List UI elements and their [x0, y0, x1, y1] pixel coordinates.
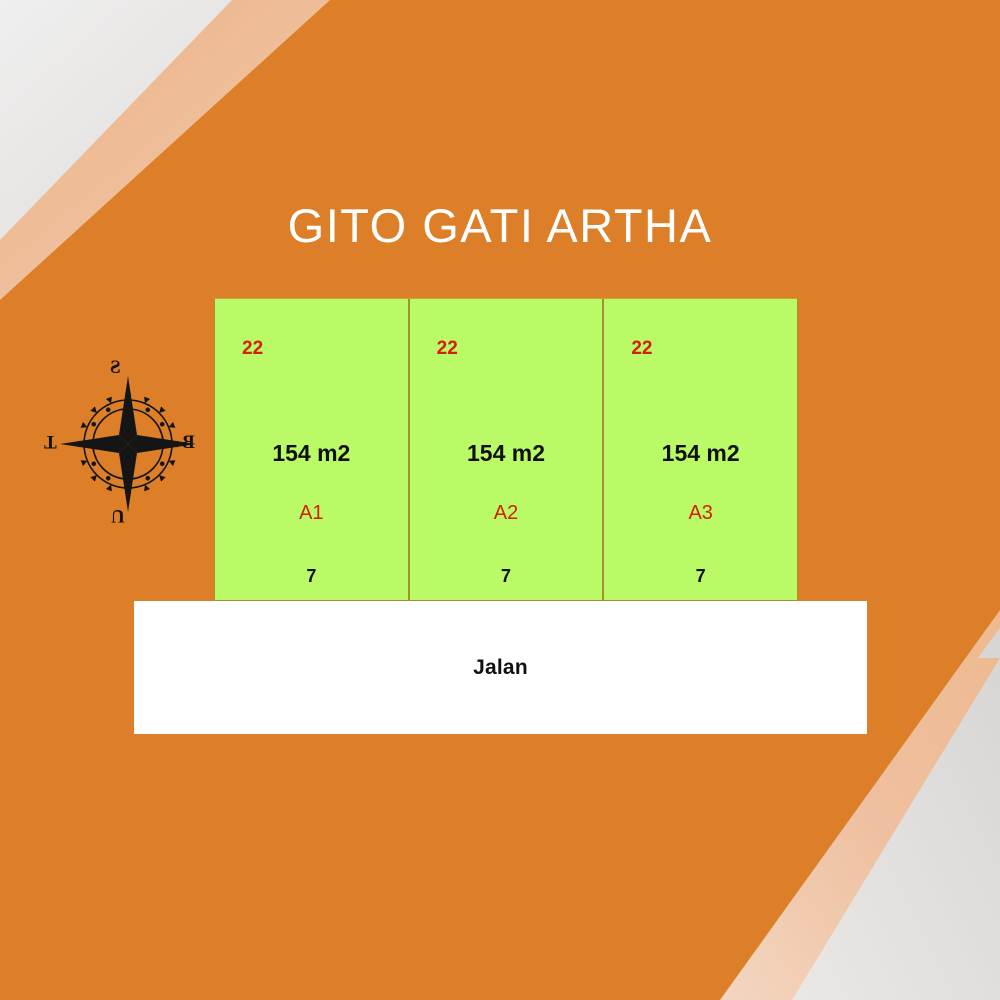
parcel-a1[interactable]: 22 154 m2 A1 7	[215, 299, 410, 600]
compass-label-south: U	[111, 506, 125, 525]
parcel-code-label: A2	[410, 503, 603, 524]
parcel-area-label: 154 m2	[410, 441, 603, 465]
road-label: Jalan	[473, 657, 528, 679]
compass-label-north: S	[110, 358, 121, 377]
compass-label-east: B	[182, 433, 195, 452]
page-title: GITO GATI ARTHA	[0, 198, 1000, 254]
parcel-depth-label: 7	[410, 567, 603, 585]
parcel-area-label: 154 m2	[215, 441, 408, 465]
parcel-area-label: 154 m2	[604, 441, 797, 465]
parcel-depth-label: 7	[215, 567, 408, 585]
parcel-a3[interactable]: 22 154 m2 A3 7	[604, 299, 797, 600]
parcel-code-label: A1	[215, 503, 408, 524]
decorative-corner-top-left	[0, 0, 330, 300]
parcel-width-label: 22	[242, 339, 263, 358]
parcel-width-label: 22	[631, 339, 652, 358]
road-band: Jalan	[134, 601, 867, 734]
site-plan-canvas: GITO GATI ARTHA	[0, 0, 1000, 1000]
parcel-code-label: A3	[604, 503, 797, 524]
parcel-width-label: 22	[437, 339, 458, 358]
compass-label-west: T	[44, 432, 57, 451]
compass-rose: S B U T	[42, 358, 214, 530]
parcel-a2[interactable]: 22 154 m2 A2 7	[410, 299, 605, 600]
parcel-depth-label: 7	[604, 567, 797, 585]
parcel-block: 22 154 m2 A1 7 22 154 m2 A2 7 22 154 m2 …	[214, 298, 798, 601]
